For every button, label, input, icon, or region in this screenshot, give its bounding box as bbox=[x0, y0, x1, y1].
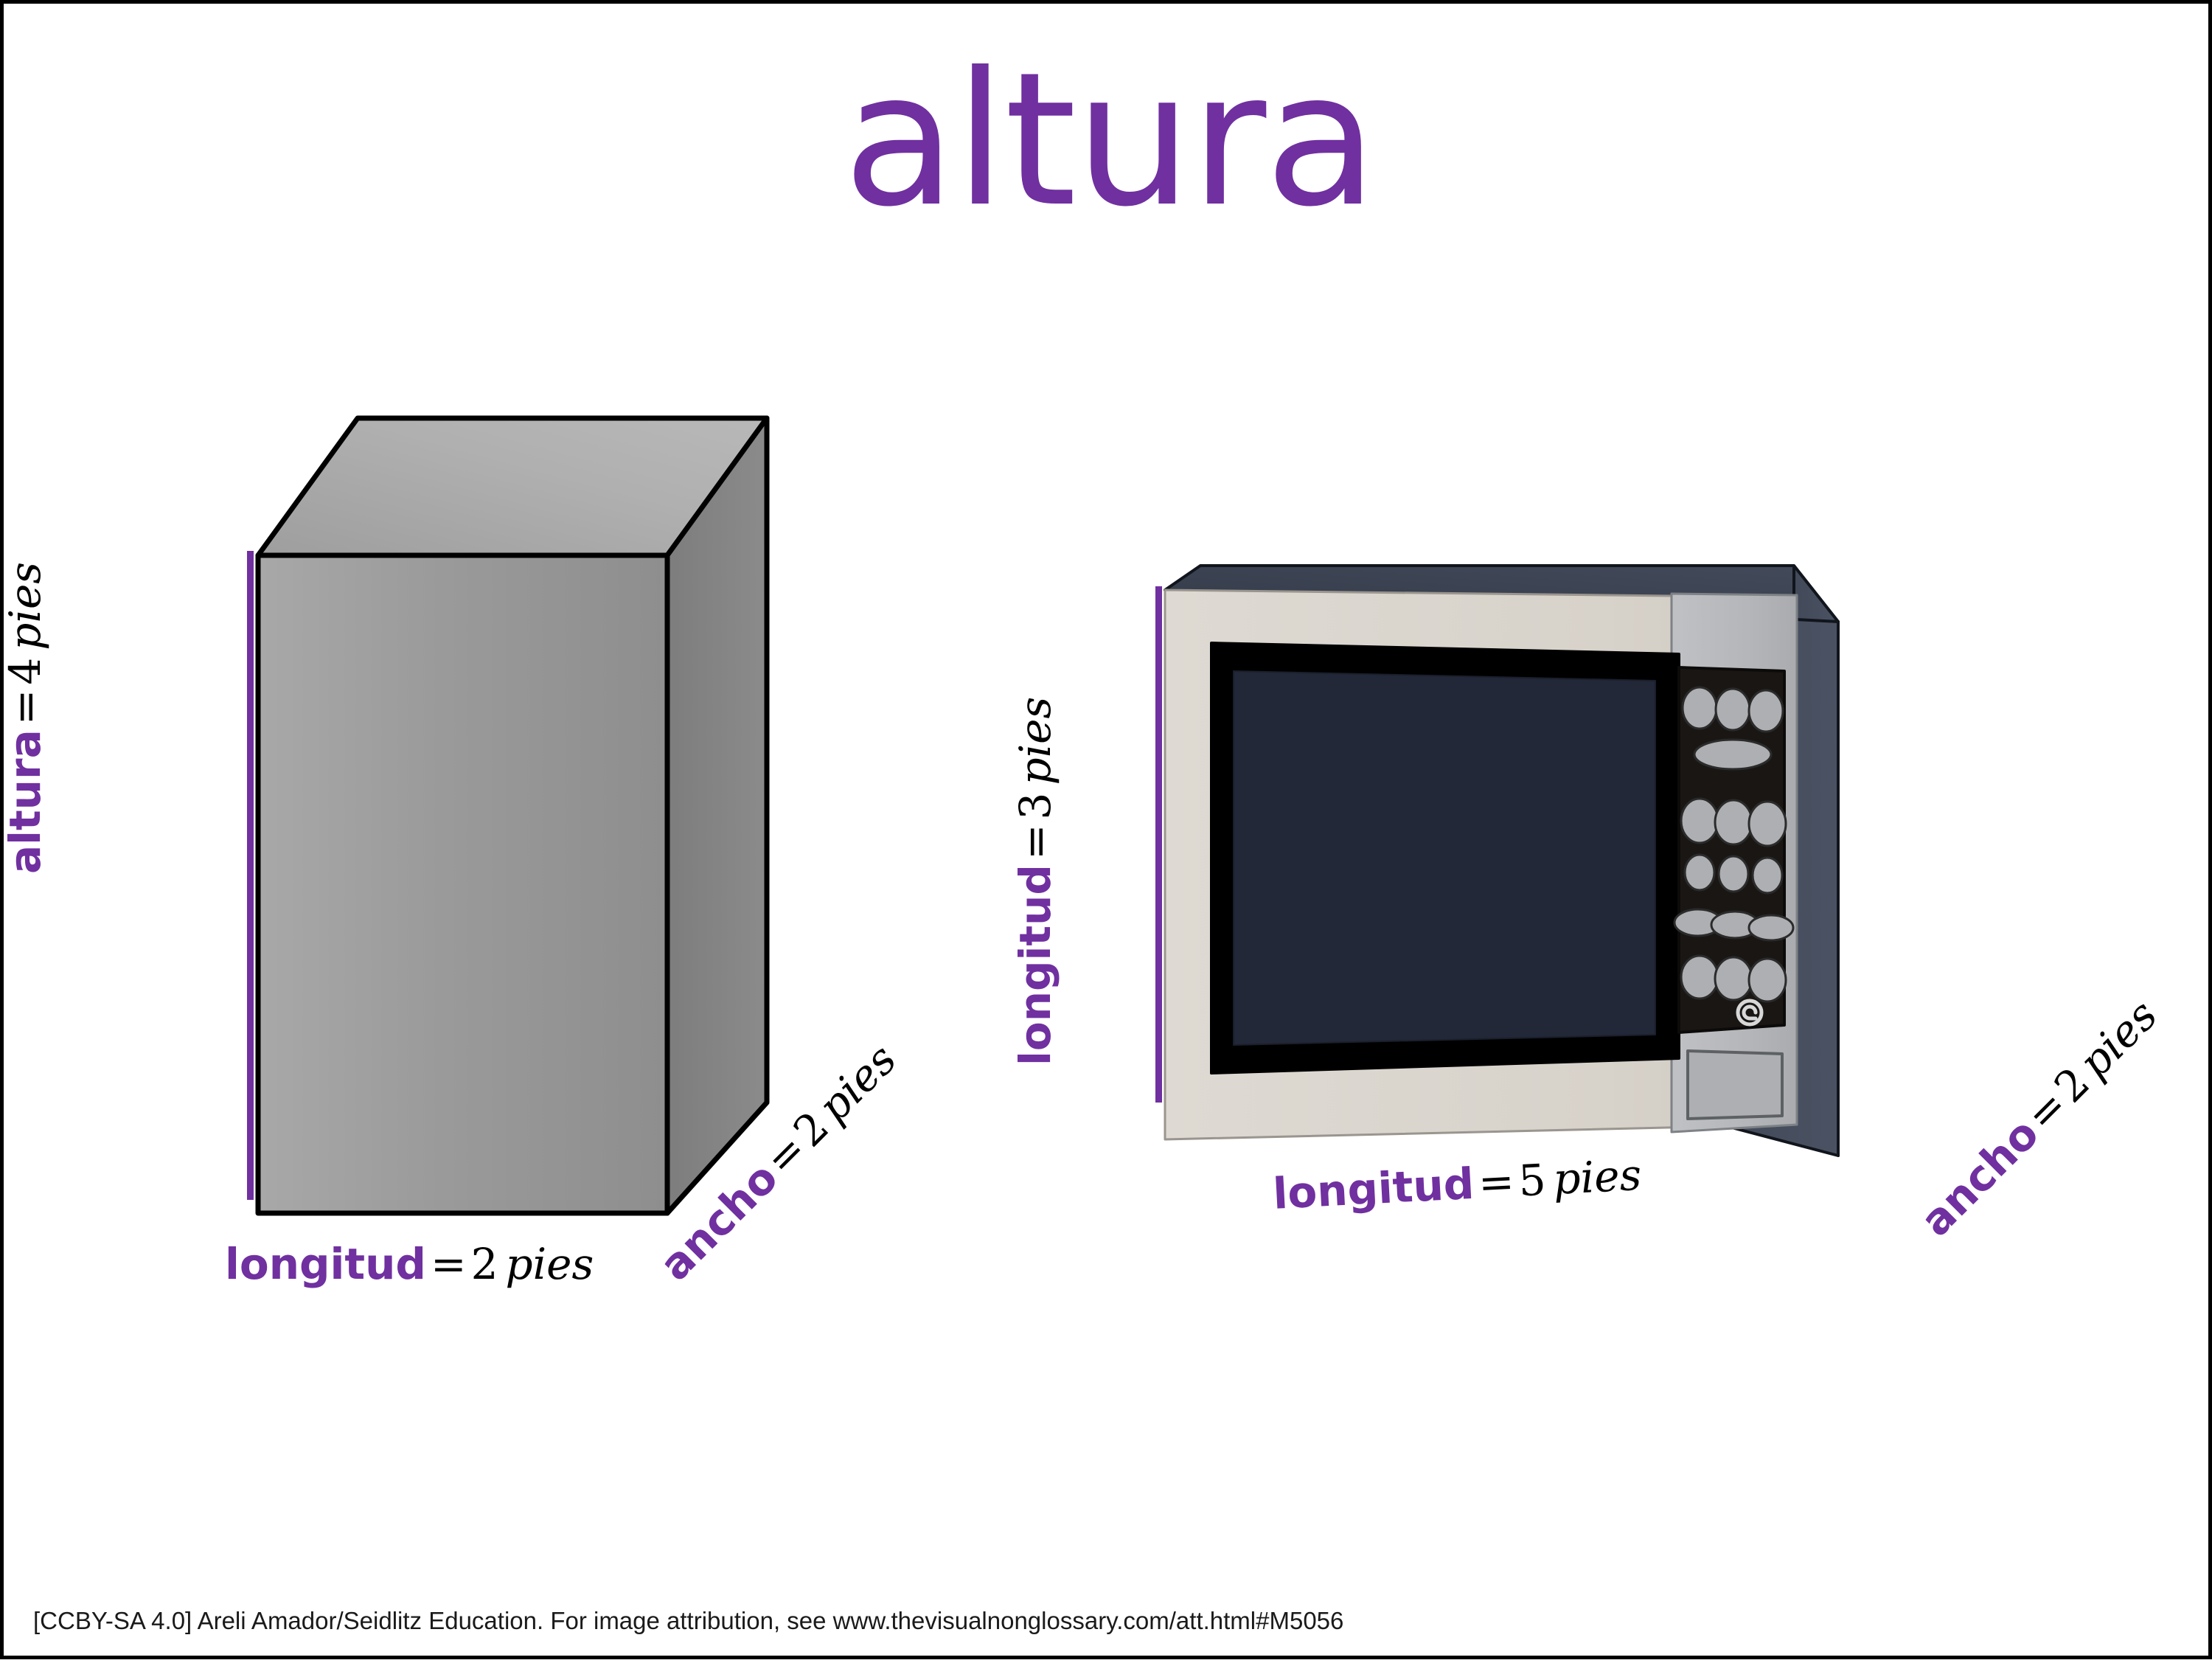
prism-side-face bbox=[667, 418, 767, 1213]
microwave-button bbox=[1749, 915, 1793, 940]
microwave-button bbox=[1749, 802, 1786, 846]
microwave-height-unit: pies bbox=[1010, 697, 1060, 793]
microwave-length-unit: pies bbox=[1545, 1150, 1643, 1205]
microwave-height-guide-line bbox=[1155, 586, 1162, 1103]
microwave-button bbox=[1753, 858, 1782, 893]
microwave-height-value: 3 bbox=[1010, 793, 1060, 820]
microwave-lower-panel bbox=[1688, 1051, 1782, 1119]
microwave-window-glass bbox=[1234, 671, 1655, 1045]
microwave-button-row-1[interactable] bbox=[1683, 687, 1783, 732]
prism-height-keyword: altura bbox=[0, 729, 50, 874]
microwave-wide-button[interactable] bbox=[1694, 740, 1771, 769]
microwave-button bbox=[1719, 856, 1748, 892]
microwave-button-row-2[interactable] bbox=[1681, 799, 1786, 846]
microwave-button bbox=[1681, 956, 1718, 999]
prism-height-label: altura=4pies bbox=[4, 562, 47, 874]
attribution-footer: [CCBY-SA 4.0] Areli Amador/Seidlitz Educ… bbox=[33, 1607, 1343, 1635]
prism-height-guide-line bbox=[247, 551, 254, 1200]
rectangular-prism-illustration bbox=[4, 4, 962, 1663]
prism-height-unit: pies bbox=[0, 562, 50, 658]
microwave-button bbox=[1683, 687, 1717, 729]
prism-length-keyword: longitud bbox=[225, 1239, 426, 1289]
prism-front-face bbox=[258, 555, 667, 1213]
microwave-height-equals: = bbox=[1010, 819, 1060, 864]
microwave-length-equals: = bbox=[1472, 1156, 1520, 1209]
microwave-button bbox=[1681, 799, 1718, 843]
prism-length-label: longitud=2pies bbox=[225, 1243, 594, 1286]
microwave-button bbox=[1715, 957, 1752, 1000]
prism-length-value: 2 bbox=[471, 1239, 498, 1289]
figure-rectangular-prism: altura=4pies longitud=2pies ancho=2pies bbox=[4, 4, 962, 1663]
page-canvas: altura bbox=[0, 0, 2212, 1659]
figure-microwave-oven: longitud=3pies longitud=5pies ancho=2pie… bbox=[1036, 4, 2212, 1663]
microwave-height-label: longitud=3pies bbox=[1014, 697, 1057, 1066]
prism-length-equals: = bbox=[426, 1239, 471, 1289]
microwave-illustration bbox=[1036, 4, 2212, 1663]
microwave-button bbox=[1749, 959, 1786, 1001]
microwave-button bbox=[1749, 690, 1783, 732]
microwave-button bbox=[1685, 855, 1714, 890]
microwave-length-keyword: longitud bbox=[1272, 1159, 1475, 1219]
microwave-button-row-5[interactable] bbox=[1681, 956, 1786, 1001]
prism-height-value: 4 bbox=[0, 658, 50, 685]
microwave-length-value: 5 bbox=[1517, 1155, 1547, 1207]
microwave-button bbox=[1716, 689, 1750, 730]
microwave-height-keyword: longitud bbox=[1010, 864, 1060, 1066]
microwave-button-row-3[interactable] bbox=[1685, 855, 1782, 893]
prism-height-equals: = bbox=[0, 685, 50, 730]
microwave-button bbox=[1715, 800, 1752, 844]
prism-length-unit: pies bbox=[498, 1239, 594, 1289]
